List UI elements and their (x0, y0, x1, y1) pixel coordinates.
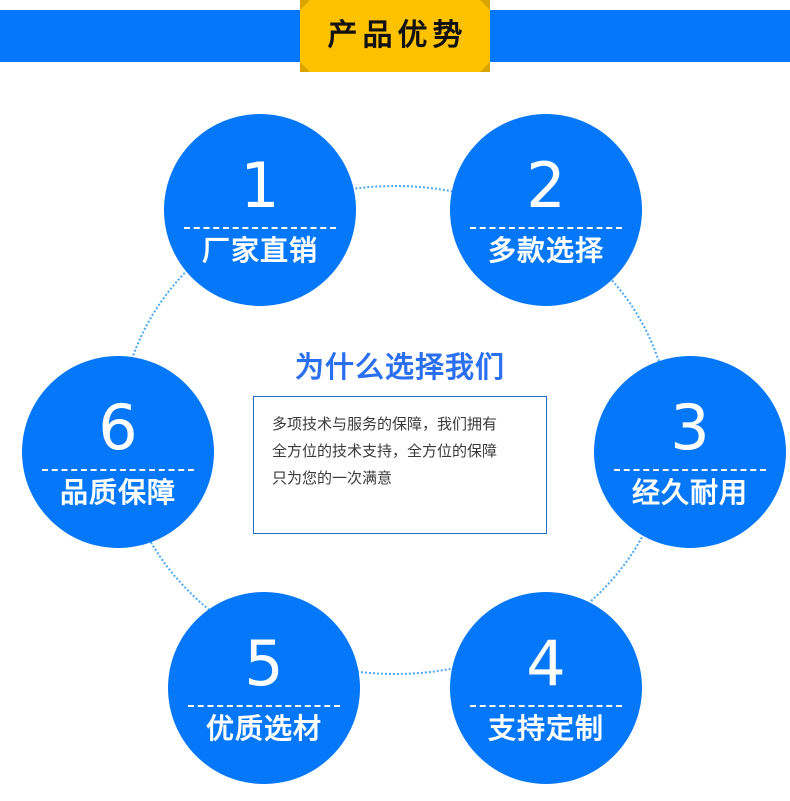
description-line: 多项技术与服务的保障，我们拥有 (272, 411, 528, 438)
advantage-divider (184, 227, 336, 229)
ribbon-notch-top-left-icon (300, 0, 310, 10)
ribbon-notch-top-right-icon (480, 0, 490, 10)
advantage-circle-4[interactable]: 4 支持定制 (450, 592, 642, 784)
page-title: 产品优势 (323, 21, 468, 51)
advantage-divider (470, 227, 622, 229)
advantage-circle-6[interactable]: 6 品质保障 (22, 356, 214, 548)
advantage-number: 1 (240, 155, 279, 217)
ribbon-notch-bottom-left-icon (300, 62, 310, 72)
advantage-label: 支持定制 (488, 715, 604, 743)
description-line: 只为您的一次满意 (272, 465, 528, 492)
advantage-divider (614, 469, 766, 471)
description-line: 全方位的技术支持，全方位的保障 (272, 438, 528, 465)
advantage-divider (42, 469, 194, 471)
advantage-number: 5 (244, 633, 283, 695)
advantage-circle-2[interactable]: 2 多款选择 (450, 114, 642, 306)
advantage-circle-1[interactable]: 1 厂家直销 (164, 114, 356, 306)
advantage-divider (188, 705, 340, 707)
advantage-circle-3[interactable]: 3 经久耐用 (594, 356, 786, 548)
header-ribbon: 产品优势 (300, 0, 490, 72)
advantage-number: 2 (526, 155, 565, 217)
product-advantage-infographic: 产品优势 1 厂家直销 2 多款选择 3 经久耐用 4 支持定制 5 优质选材 … (0, 0, 790, 801)
advantage-divider (470, 705, 622, 707)
advantage-label: 经久耐用 (632, 479, 748, 507)
center-description-box: 多项技术与服务的保障，我们拥有 全方位的技术支持，全方位的保障 只为您的一次满意 (253, 396, 547, 534)
advantage-number: 3 (670, 397, 709, 459)
center-block: 为什么选择我们 多项技术与服务的保障，我们拥有 全方位的技术支持，全方位的保障 … (240, 352, 560, 534)
advantage-circle-5[interactable]: 5 优质选材 (168, 592, 360, 784)
advantage-label: 优质选材 (206, 715, 322, 743)
ribbon-notch-bottom-right-icon (480, 62, 490, 72)
advantage-label: 厂家直销 (202, 237, 318, 265)
advantage-number: 4 (526, 633, 565, 695)
advantage-number: 6 (98, 397, 137, 459)
center-heading: 为什么选择我们 (240, 352, 560, 384)
advantage-label: 多款选择 (488, 237, 604, 265)
advantage-label: 品质保障 (60, 479, 176, 507)
